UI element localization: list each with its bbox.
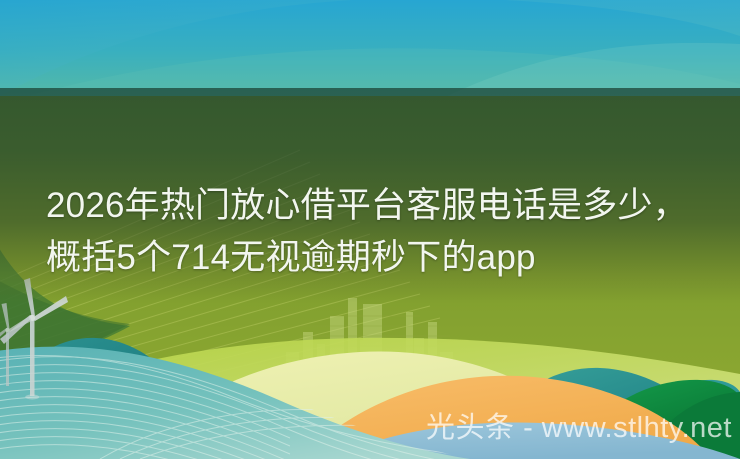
site-watermark: 光头条 - www.stlhty.net — [426, 411, 732, 445]
promo-banner: 2026年热门放心借平台客服电话是多少，概括5个714无视逾期秒下的app 光头… — [0, 0, 740, 459]
page-title: 2026年热门放心借平台客服电话是多少，概括5个714无视逾期秒下的app — [46, 180, 718, 284]
